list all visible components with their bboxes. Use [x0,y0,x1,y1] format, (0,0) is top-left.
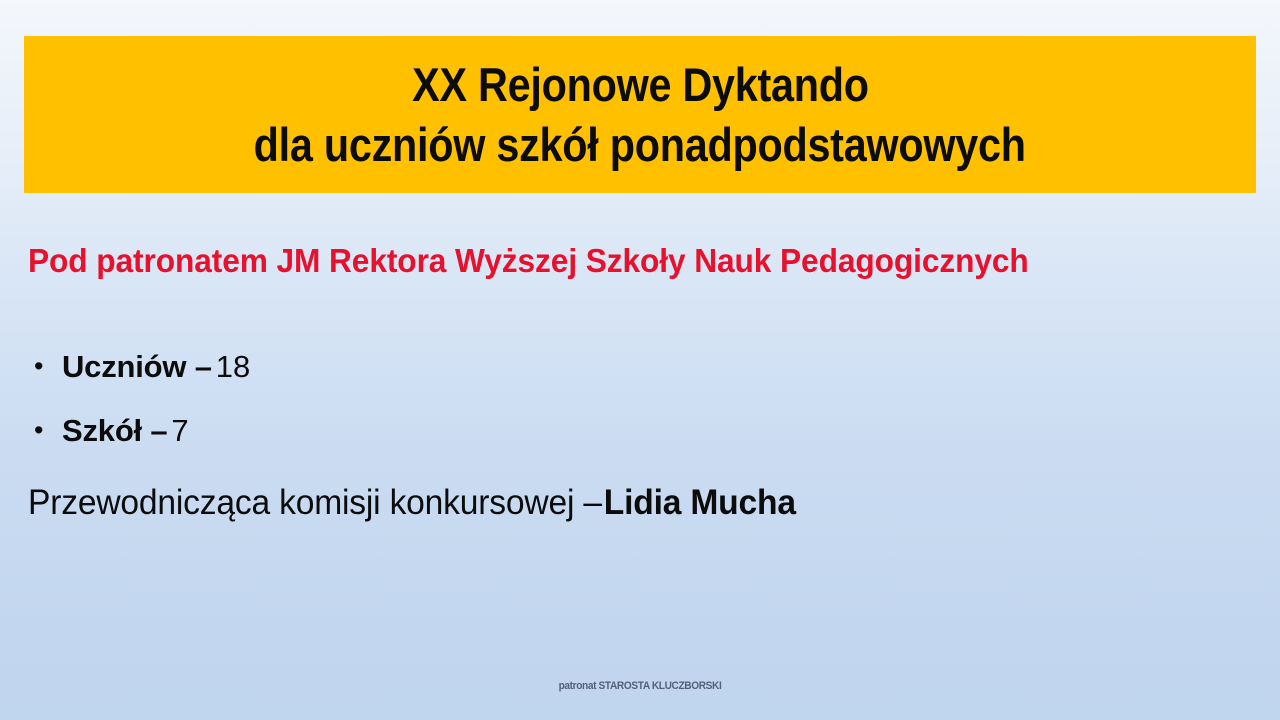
jury-chair-prefix: Przewodnicząca komisji konkursowej – [28,483,602,522]
title-line-1: XX Rejonowe Dyktando [412,55,869,115]
title-banner: XX Rejonowe Dyktando dla uczniów szkół p… [24,36,1256,193]
bullet-value-schools: 7 [171,413,188,448]
bullet-label-schools: Szkół – [62,413,167,448]
jury-chair-line: Przewodnicząca komisji konkursowej –Lidi… [28,481,1199,525]
list-item: Uczniów –18 [28,348,1248,386]
statistics-list: Uczniów –18 Szkół –7 [28,348,1248,476]
bullet-value-students: 18 [216,349,250,384]
footer-sponsor-text: patronat STAROSTA KLUCZBORSKI [51,679,1229,693]
title-line-2: dla uczniów szkół ponadpodstawowych [254,115,1026,175]
patron-line: Pod patronatem JM Rektora Wyższej Szkoły… [28,241,1199,281]
bullet-label-students: Uczniów – [62,349,212,384]
list-item: Szkół –7 [28,412,1248,450]
jury-chair-name: Lidia Mucha [604,483,796,522]
slide-body: Pod patronatem JM Rektora Wyższej Szkoły… [0,193,1280,663]
presentation-slide: XX Rejonowe Dyktando dla uczniów szkół p… [0,0,1280,720]
